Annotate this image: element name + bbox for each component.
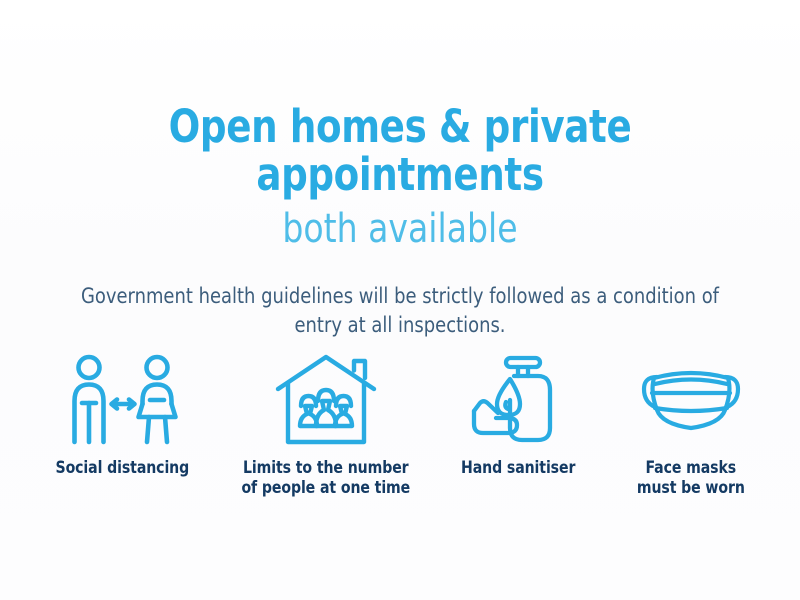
social-distancing-icon <box>60 352 186 448</box>
house-occupancy-limit-icon <box>274 352 378 448</box>
feature-label: Social distancing <box>56 458 190 478</box>
feature-face-mask: Face masks must be worn <box>606 352 776 498</box>
feature-label: Face masks must be worn <box>637 458 745 498</box>
page-subtitle: both available <box>32 206 768 252</box>
feature-hand-sanitiser: Hand sanitiser <box>431 352 606 478</box>
body-copy: Government health guidelines will be str… <box>65 282 736 340</box>
hand-sanitiser-icon <box>470 352 566 448</box>
page-title: Open homes & private appointments <box>32 103 768 198</box>
feature-label: Limits to the number of people at one ti… <box>241 458 410 498</box>
face-mask-icon <box>640 352 742 448</box>
features-row: Social distancing <box>0 352 800 498</box>
feature-label: Hand sanitiser <box>461 458 575 478</box>
feature-social-distancing: Social distancing <box>25 352 221 478</box>
feature-occupancy-limit: Limits to the number of people at one ti… <box>221 352 431 498</box>
headline-block: Open homes & private appointments both a… <box>0 103 800 252</box>
covid-safety-poster: Open homes & private appointments both a… <box>0 0 800 600</box>
